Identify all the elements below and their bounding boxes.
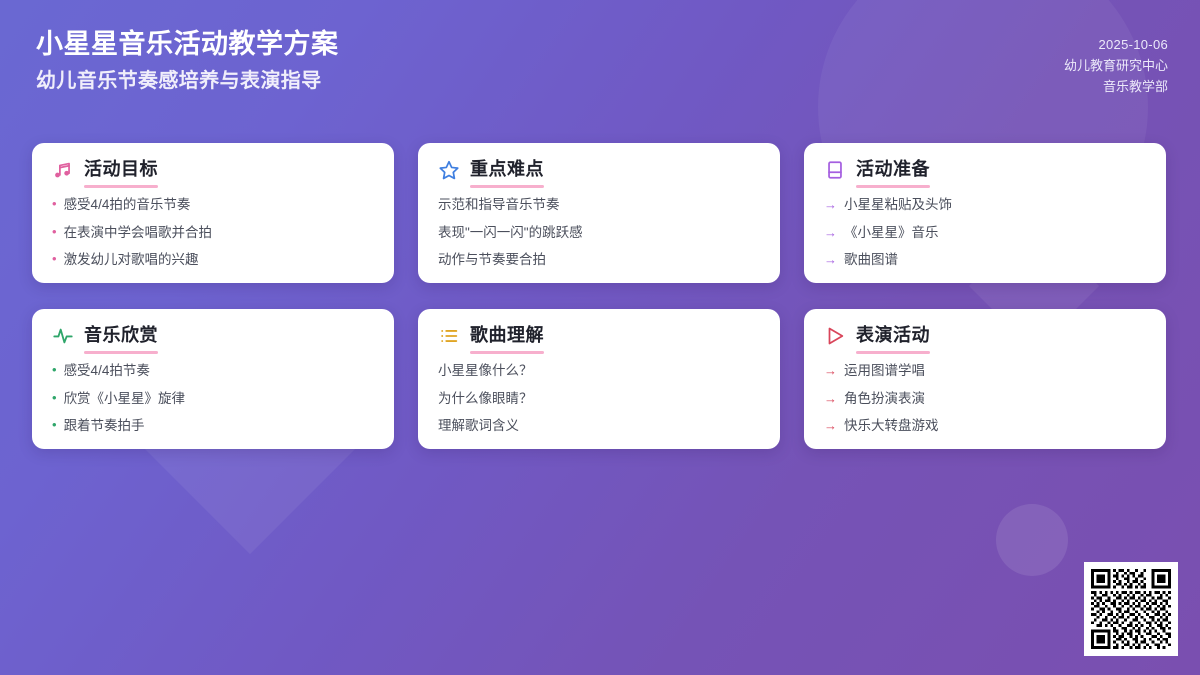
list-item: • 感受4/4拍节奏 [52,361,374,381]
list-item-text: 角色扮演表演 [844,389,925,409]
card-title: 表演活动 [856,325,930,345]
title-underline [84,351,158,354]
list-item-text: 运用图谱学唱 [844,361,925,381]
header-department: 音乐教学部 [1064,76,1168,97]
card-title: 活动准备 [856,159,930,179]
card-song-understanding[interactable]: 歌曲理解 小星星像什么？ 为什么像眼睛？ 理解歌词含义 [418,309,780,449]
list-item-text: 表现"一闪一闪"的跳跃感 [438,223,583,243]
book-icon [824,159,846,181]
qr-code[interactable] [1084,562,1178,656]
title-underline [856,185,930,188]
list-item-text: 小星星像什么？ [438,361,533,381]
list-item-text: 《小星星》音乐 [844,223,939,243]
card-header: 活动目标 [52,159,374,181]
page-subtitle: 幼儿音乐节奏感培养与表演指导 [36,68,339,94]
card-title-wrap: 音乐欣赏 [84,325,158,347]
list-item-text: 欣赏《小星星》旋律 [64,389,186,409]
card-title: 重点难点 [470,159,544,179]
list-item: 表现"一闪一闪"的跳跃感 [438,223,760,243]
list-item-text: 示范和指导音乐节奏 [438,195,560,215]
list-item: 为什么像眼睛？ [438,389,760,409]
list-item: → 角色扮演表演 [824,389,1146,409]
title-underline [470,351,544,354]
header-title-block: 小星星音乐活动教学方案 幼儿音乐节奏感培养与表演指导 [36,28,339,94]
bullet-dot-icon: • [52,252,57,265]
arrow-right-icon: → [824,392,837,405]
list-item-text: 理解歌词含义 [438,416,519,436]
list-item: 动作与节奏要合拍 [438,250,760,270]
list-item: • 欣赏《小星星》旋律 [52,389,374,409]
card-title-wrap: 重点难点 [470,159,544,181]
list-item: • 在表演中学会唱歌并合拍 [52,223,374,243]
list-icon [438,325,460,347]
list-item: → 歌曲图谱 [824,250,1146,270]
activity-pulse-icon [52,325,74,347]
list-item-text: 动作与节奏要合拍 [438,250,546,270]
arrow-right-icon: → [824,198,837,211]
list-item: • 感受4/4拍的音乐节奏 [52,195,374,215]
qr-code-image [1091,569,1171,649]
card-performance-activity[interactable]: 表演活动 → 运用图谱学唱 → 角色扮演表演 → 快乐大转盘游戏 [804,309,1166,449]
card-key-difficulties[interactable]: 重点难点 示范和指导音乐节奏 表现"一闪一闪"的跳跃感 动作与节奏要合拍 [418,143,780,283]
list-item-text: 小星星粘贴及头饰 [844,195,952,215]
bullet-dot-icon: • [52,418,57,431]
decoration-circle-bottom-right [996,504,1068,576]
card-music-appreciation[interactable]: 音乐欣赏 • 感受4/4拍节奏 • 欣赏《小星星》旋律 • 跟着节奏拍手 [32,309,394,449]
play-triangle-icon [824,325,846,347]
list-item-text: 激发幼儿对歌唱的兴趣 [64,250,199,270]
card-header: 活动准备 [824,159,1146,181]
card-header: 音乐欣赏 [52,325,374,347]
arrow-right-icon: → [824,253,837,266]
card-item-list: • 感受4/4拍的音乐节奏 • 在表演中学会唱歌并合拍 • 激发幼儿对歌唱的兴趣 [52,195,374,270]
title-underline [856,351,930,354]
list-item: • 跟着节奏拍手 [52,416,374,436]
list-item-text: 快乐大转盘游戏 [844,416,939,436]
slide-root: 小星星音乐活动教学方案 幼儿音乐节奏感培养与表演指导 2025-10-06 幼儿… [0,0,1200,675]
bullet-dot-icon: • [52,197,57,210]
arrow-right-icon: → [824,364,837,377]
list-item: → 《小星星》音乐 [824,223,1146,243]
list-item: 理解歌词含义 [438,416,760,436]
list-item: → 快乐大转盘游戏 [824,416,1146,436]
list-item-text: 感受4/4拍的音乐节奏 [64,195,191,215]
card-item-list: 小星星像什么？ 为什么像眼睛？ 理解歌词含义 [438,361,760,436]
card-title: 音乐欣赏 [84,325,158,345]
bullet-dot-icon: • [52,391,57,404]
list-item-text: 为什么像眼睛？ [438,389,533,409]
slide-header: 小星星音乐活动教学方案 幼儿音乐节奏感培养与表演指导 2025-10-06 幼儿… [0,0,1200,125]
card-item-list: → 小星星粘贴及头饰 → 《小星星》音乐 → 歌曲图谱 [824,195,1146,270]
title-underline [84,185,158,188]
list-item: 小星星像什么？ [438,361,760,381]
card-activity-preparation[interactable]: 活动准备 → 小星星粘贴及头饰 → 《小星星》音乐 → 歌曲图谱 [804,143,1166,283]
card-item-list: → 运用图谱学唱 → 角色扮演表演 → 快乐大转盘游戏 [824,361,1146,436]
card-title-wrap: 活动目标 [84,159,158,181]
star-icon [438,159,460,181]
card-item-list: 示范和指导音乐节奏 表现"一闪一闪"的跳跃感 动作与节奏要合拍 [438,195,760,270]
list-item: → 小星星粘贴及头饰 [824,195,1146,215]
list-item-text: 歌曲图谱 [844,250,898,270]
list-item: → 运用图谱学唱 [824,361,1146,381]
card-item-list: • 感受4/4拍节奏 • 欣赏《小星星》旋律 • 跟着节奏拍手 [52,361,374,436]
card-title: 歌曲理解 [470,325,544,345]
list-item: • 激发幼儿对歌唱的兴趣 [52,250,374,270]
title-underline [470,185,544,188]
arrow-right-icon: → [824,226,837,239]
card-activity-goals[interactable]: 活动目标 • 感受4/4拍的音乐节奏 • 在表演中学会唱歌并合拍 • 激发幼儿对… [32,143,394,283]
bullet-dot-icon: • [52,225,57,238]
card-title-wrap: 表演活动 [856,325,930,347]
card-header: 歌曲理解 [438,325,760,347]
card-title: 活动目标 [84,159,158,179]
list-item: 示范和指导音乐节奏 [438,195,760,215]
header-organization: 幼儿教育研究中心 [1064,55,1168,76]
music-note-icon [52,159,74,181]
card-grid: 活动目标 • 感受4/4拍的音乐节奏 • 在表演中学会唱歌并合拍 • 激发幼儿对… [32,143,1168,449]
page-title: 小星星音乐活动教学方案 [36,28,339,62]
arrow-right-icon: → [824,419,837,432]
card-title-wrap: 活动准备 [856,159,930,181]
list-item-text: 跟着节奏拍手 [64,416,145,436]
card-header: 重点难点 [438,159,760,181]
list-item-text: 感受4/4拍节奏 [64,361,150,381]
card-header: 表演活动 [824,325,1146,347]
list-item-text: 在表演中学会唱歌并合拍 [64,223,213,243]
bullet-dot-icon: • [52,363,57,376]
header-meta-block: 2025-10-06 幼儿教育研究中心 音乐教学部 [1064,34,1168,97]
card-title-wrap: 歌曲理解 [470,325,544,347]
header-date: 2025-10-06 [1064,34,1168,55]
